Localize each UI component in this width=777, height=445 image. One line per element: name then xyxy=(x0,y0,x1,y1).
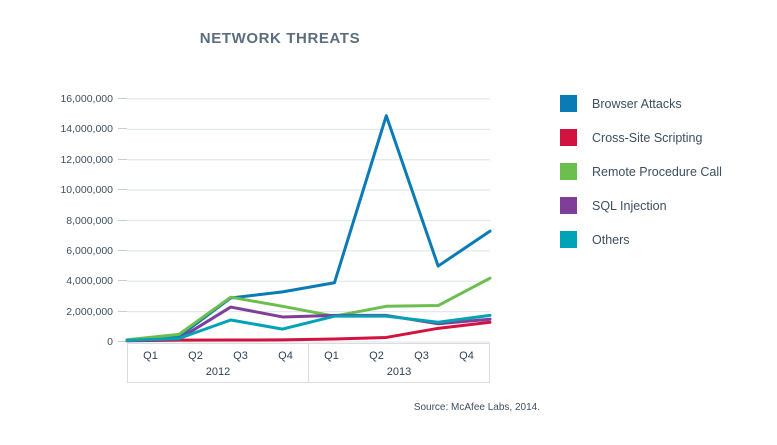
x-axis-quarter-label: Q1 xyxy=(128,347,173,365)
x-axis-quarters: Q1Q2Q3Q4 xyxy=(309,347,489,365)
legend-item-label: Others xyxy=(592,233,630,247)
y-axis-tick-mark xyxy=(118,189,127,190)
y-axis-tick-label: 4,000,000 xyxy=(66,274,113,288)
x-axis-quarter-label: Q4 xyxy=(263,347,308,365)
legend-item-others[interactable]: Others xyxy=(560,224,770,255)
x-axis-year-label: 2012 xyxy=(128,365,308,379)
y-axis-tick: 14,000,000 xyxy=(40,122,127,136)
series-lines xyxy=(127,116,490,341)
y-axis-tick: 12,000,000 xyxy=(40,153,127,167)
y-axis-tick-mark xyxy=(118,128,127,129)
y-axis-tick-mark xyxy=(118,280,127,281)
x-axis-year-label: 2013 xyxy=(309,365,489,379)
x-axis-quarter-label: Q3 xyxy=(218,347,263,365)
x-axis-quarter-label: Q3 xyxy=(399,347,444,365)
legend-color-swatch xyxy=(560,231,577,248)
x-axis-quarter-label: Q4 xyxy=(444,347,489,365)
x-axis-quarter-label: Q2 xyxy=(173,347,218,365)
network-threats-chart: NETWORK THREATS 16,000,00014,000,00012,0… xyxy=(0,0,777,445)
chart-title: NETWORK THREATS xyxy=(0,30,560,47)
legend-item-remote-procedure-call[interactable]: Remote Procedure Call xyxy=(560,156,770,187)
y-axis: 16,000,00014,000,00012,000,00010,000,000… xyxy=(40,92,127,349)
y-axis-tick: 8,000,000 xyxy=(40,214,127,228)
y-axis-tick-mark xyxy=(118,311,127,312)
y-axis-tick-label: 12,000,000 xyxy=(60,153,113,167)
legend-item-label: SQL Injection xyxy=(592,199,667,213)
legend-color-swatch xyxy=(560,163,577,180)
y-axis-tick-label: 6,000,000 xyxy=(66,244,113,258)
y-axis-tick: 16,000,000 xyxy=(40,92,127,106)
legend-color-swatch xyxy=(560,95,577,112)
x-axis-quarter-label: Q2 xyxy=(354,347,399,365)
legend-item-sql-injection[interactable]: SQL Injection xyxy=(560,190,770,221)
x-axis: Q1Q2Q3Q42012Q1Q2Q3Q42013 xyxy=(127,343,490,383)
y-axis-tick-mark xyxy=(118,250,127,251)
legend-item-cross-site-scripting[interactable]: Cross-Site Scripting xyxy=(560,122,770,153)
y-axis-tick-mark xyxy=(118,159,127,160)
y-axis-tick-label: 8,000,000 xyxy=(66,214,113,228)
x-axis-quarter-label: Q1 xyxy=(309,347,354,365)
source-note: Source: McAfee Labs, 2014. xyxy=(0,402,540,413)
legend-item-label: Remote Procedure Call xyxy=(592,165,722,179)
x-axis-group-2012: Q1Q2Q3Q42012 xyxy=(127,343,309,383)
legend-item-label: Cross-Site Scripting xyxy=(592,131,702,145)
plot-svg xyxy=(127,99,490,342)
x-axis-group-2013: Q1Q2Q3Q42013 xyxy=(309,343,490,383)
legend-item-label: Browser Attacks xyxy=(592,97,682,111)
y-axis-tick: 0 xyxy=(40,335,127,349)
y-axis-tick: 2,000,000 xyxy=(40,305,127,319)
x-axis-quarters: Q1Q2Q3Q4 xyxy=(128,347,308,365)
y-axis-tick-label: 0 xyxy=(107,335,113,349)
y-axis-tick-label: 2,000,000 xyxy=(66,305,113,319)
legend-color-swatch xyxy=(560,129,577,146)
plot-area xyxy=(127,99,490,342)
legend-item-browser-attacks[interactable]: Browser Attacks xyxy=(560,88,770,119)
legend-color-swatch xyxy=(560,197,577,214)
y-axis-tick-mark xyxy=(118,98,127,99)
y-axis-tick: 4,000,000 xyxy=(40,274,127,288)
y-axis-tick-label: 10,000,000 xyxy=(60,183,113,197)
y-axis-tick-label: 16,000,000 xyxy=(60,92,113,106)
y-axis-tick-mark xyxy=(118,220,127,221)
y-axis-tick: 6,000,000 xyxy=(40,244,127,258)
y-axis-tick-label: 14,000,000 xyxy=(60,122,113,136)
chart-legend: Browser AttacksCross-Site ScriptingRemot… xyxy=(560,88,770,258)
y-axis-tick: 10,000,000 xyxy=(40,183,127,197)
